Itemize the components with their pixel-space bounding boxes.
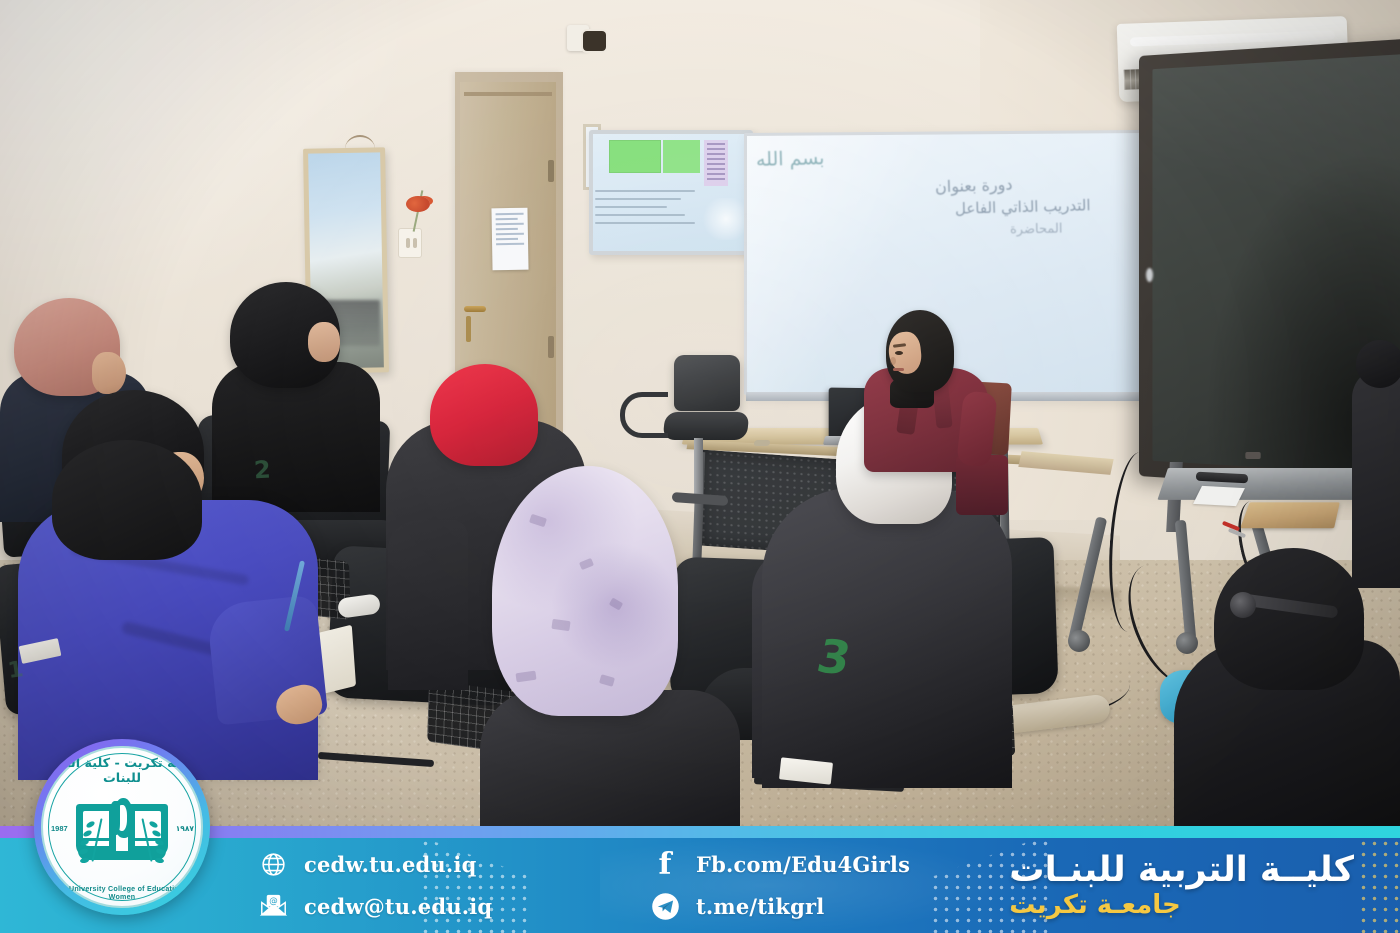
attendee-red-hijab: [430, 364, 538, 466]
classroom-photo: بسم الله دورة بعنوان التدريب الذاتي الفا…: [0, 0, 1400, 933]
footer-gradient-divider: [0, 826, 1400, 838]
facebook-handle: Fb.com/Edu4Girls: [696, 852, 910, 877]
logo-english-text: Tikrit University College of Education f…: [41, 885, 203, 901]
dot-pattern-edge: [1358, 838, 1400, 933]
woman-profile-icon: [109, 798, 135, 844]
website-url: cedw.tu.edu.iq: [304, 852, 476, 877]
attendee-back-left-face: [92, 352, 126, 394]
instructor-mouth: [893, 368, 904, 371]
contact-column-social: f Fb.com/Edu4Girls t.me/tikgrl: [650, 838, 910, 933]
whiteboard-text-line-1: بسم الله: [756, 147, 825, 171]
instructor-eye: [895, 351, 903, 355]
attendee-red-hijab-sleeve: [388, 520, 468, 690]
office-chair-armrest: [620, 392, 668, 438]
flower-icon: [406, 196, 430, 212]
telegram-handle: t.me/tikgrl: [696, 894, 824, 919]
laurel-wreath-left: [74, 816, 104, 868]
brand-college-name: كليــة التربية للبنـات: [1009, 852, 1354, 889]
telegram-icon: [650, 892, 680, 922]
attendee-white-hijab-body: [762, 488, 1012, 788]
logo-arabic-text: جامعة تكريت - كلية التربية للبنات: [41, 755, 203, 785]
contact-row-website[interactable]: cedw.tu.edu.iq: [258, 850, 492, 880]
door-handle[interactable]: [464, 306, 486, 312]
smart-display-logo: [1245, 452, 1260, 459]
display-stand-caster-1: [1068, 630, 1090, 652]
branding-footer: cedw.tu.edu.iq @ cedw@tu.edu.iq f Fb.com…: [0, 826, 1400, 933]
laurel-wreath-right: [140, 816, 170, 868]
chair-number-label-2: 2: [253, 456, 271, 485]
globe-icon: [258, 850, 288, 880]
contact-row-email[interactable]: @ cedw@tu.edu.iq: [258, 892, 492, 922]
office-chair-seat[interactable]: [663, 412, 750, 440]
logo-year-arabic: ١٩٨٧: [176, 824, 194, 833]
whiteboard-text-line-4: المحاضرة: [1010, 222, 1063, 238]
desk-small-object: [753, 440, 770, 446]
email-icon: @: [258, 892, 288, 922]
attendee-back-right-face: [308, 322, 340, 362]
door-hinge-lower: [548, 336, 554, 358]
attendee-far-right-head: [1356, 340, 1400, 388]
whiteboard-text-line-2: دورة بعنوان: [935, 175, 1013, 197]
attendee-far-right-body: [1352, 368, 1400, 588]
logo-emblem: [76, 798, 168, 864]
green-note-card-2: [663, 140, 700, 173]
logo-disc: جامعة تكريت - كلية التربية للبنات 1987 ١…: [41, 746, 203, 908]
whiteboard-text-line-3: التدريب الذاتي الفاعل: [955, 196, 1091, 218]
bag-buckle: [1230, 592, 1256, 618]
brand-university-name: جامعـة تكريت: [1009, 891, 1180, 919]
security-camera-icon: [583, 31, 606, 51]
college-logo: جامعة تكريت - كلية التربية للبنات 1987 ١…: [34, 739, 210, 915]
whiteboard-handwriting-left: [595, 190, 695, 242]
shelf-papers: [1193, 486, 1245, 506]
green-note-card-1: [609, 140, 661, 173]
pink-note-card: [704, 140, 728, 186]
door-hinge-upper: [548, 160, 554, 182]
instructor-nose: [890, 357, 896, 365]
facebook-icon: f: [650, 850, 680, 880]
email-address: cedw@tu.edu.iq: [304, 894, 492, 919]
smart-display-glare: [1146, 268, 1153, 282]
office-chair-gas-post: [694, 438, 703, 498]
contact-column-web: cedw.tu.edu.iq @ cedw@tu.edu.iq: [258, 838, 492, 933]
door-lock-plate: [466, 316, 471, 342]
display-stand-shelf: [1157, 468, 1361, 500]
contact-row-telegram[interactable]: t.me/tikgrl: [650, 892, 910, 922]
office-chair-backrest[interactable]: [674, 355, 740, 411]
logo-year-latin: 1987: [51, 824, 68, 833]
door-notice-paper: [491, 208, 528, 271]
wall-outlet: [398, 228, 422, 258]
screenshot-root: بسم الله دورة بعنوان التدريب الذاتي الفا…: [0, 0, 1400, 933]
attendee-right-black-hijab: [1214, 548, 1364, 690]
attendee-front-left-black-hijab: [52, 440, 202, 560]
profile-hair: [109, 801, 120, 835]
brand-name-block: كليــة التربية للبنـات جامعـة تكريت: [1009, 838, 1354, 933]
door-top-groove: [464, 92, 552, 96]
contact-row-facebook[interactable]: f Fb.com/Edu4Girls: [650, 850, 910, 880]
svg-text:@: @: [269, 895, 277, 905]
